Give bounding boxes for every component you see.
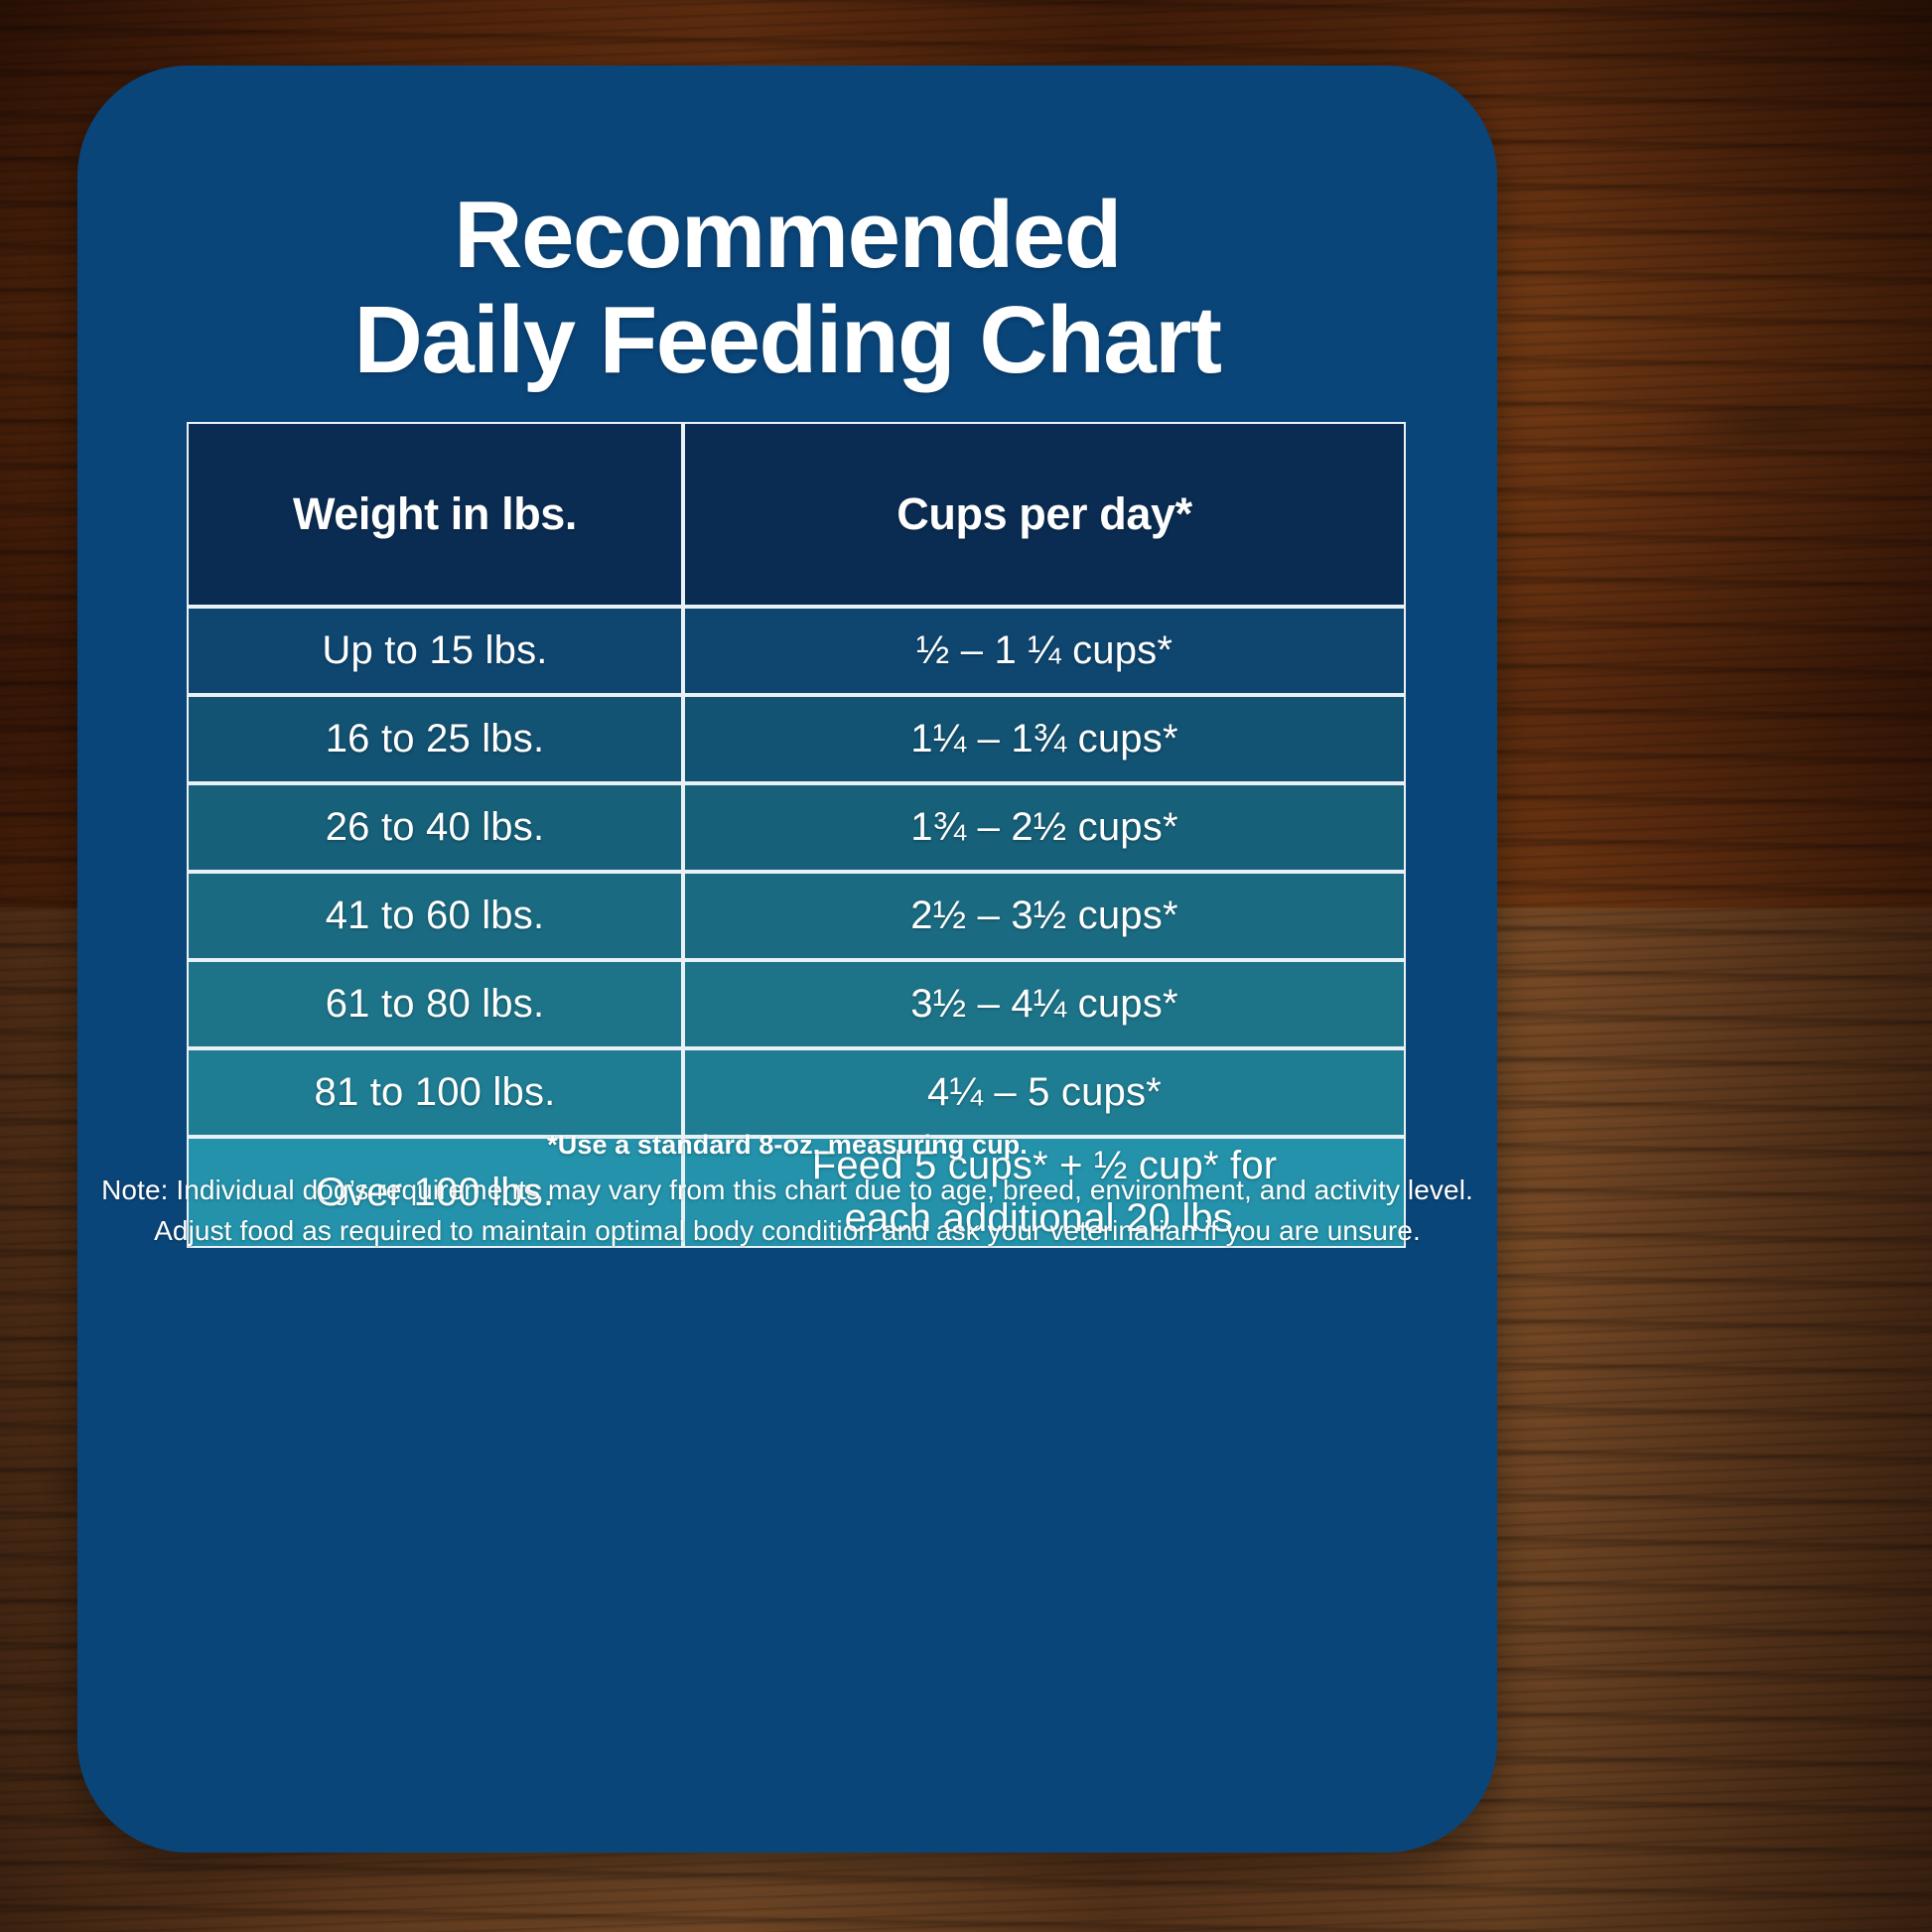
- footnotes-block: *Use a standard 8-oz. measuring cup. Not…: [77, 1126, 1497, 1252]
- cell-weight: 41 to 60 lbs.: [187, 872, 683, 960]
- cell-cups: 1¼ – 1¾ cups*: [683, 695, 1406, 783]
- table-row: 81 to 100 lbs.4¼ – 5 cups*: [187, 1048, 1406, 1137]
- column-header-cups: Cups per day*: [683, 422, 1406, 607]
- cell-cups: 1¾ – 2½ cups*: [683, 783, 1406, 872]
- table-row: Up to 15 lbs.½ – 1 ¼ cups*: [187, 607, 1406, 695]
- cell-weight: 26 to 40 lbs.: [187, 783, 683, 872]
- cell-weight: 61 to 80 lbs.: [187, 960, 683, 1048]
- feeding-chart-table: Weight in lbs. Cups per day* Up to 15 lb…: [187, 422, 1406, 1248]
- cell-cups: 4¼ – 5 cups*: [683, 1048, 1406, 1137]
- feeding-chart-card: Recommended Daily Feeding Chart Weight i…: [77, 66, 1497, 1853]
- table-row: 26 to 40 lbs.1¾ – 2½ cups*: [187, 783, 1406, 872]
- footnote-note-line-2: Adjust food as required to maintain opti…: [77, 1210, 1497, 1251]
- column-header-weight: Weight in lbs.: [187, 422, 683, 607]
- cell-weight: Up to 15 lbs.: [187, 607, 683, 695]
- table-header-row: Weight in lbs. Cups per day*: [187, 422, 1406, 607]
- page-title-line-1: Recommended: [77, 183, 1497, 288]
- page-title: Recommended Daily Feeding Chart: [77, 183, 1497, 392]
- footnote-measuring-cup: *Use a standard 8-oz. measuring cup.: [77, 1126, 1497, 1166]
- table-row: 41 to 60 lbs.2½ – 3½ cups*: [187, 872, 1406, 960]
- table-row: 61 to 80 lbs.3½ – 4¼ cups*: [187, 960, 1406, 1048]
- page-title-line-2: Daily Feeding Chart: [77, 288, 1497, 393]
- table-row: 16 to 25 lbs.1¼ – 1¾ cups*: [187, 695, 1406, 783]
- cell-cups: ½ – 1 ¼ cups*: [683, 607, 1406, 695]
- cell-weight: 16 to 25 lbs.: [187, 695, 683, 783]
- cell-cups: 3½ – 4¼ cups*: [683, 960, 1406, 1048]
- cell-cups: 2½ – 3½ cups*: [683, 872, 1406, 960]
- table-header: Weight in lbs. Cups per day*: [187, 422, 1406, 607]
- cell-weight: 81 to 100 lbs.: [187, 1048, 683, 1137]
- footnote-note-line-1: Note: Individual dog’s requirements may …: [77, 1170, 1497, 1210]
